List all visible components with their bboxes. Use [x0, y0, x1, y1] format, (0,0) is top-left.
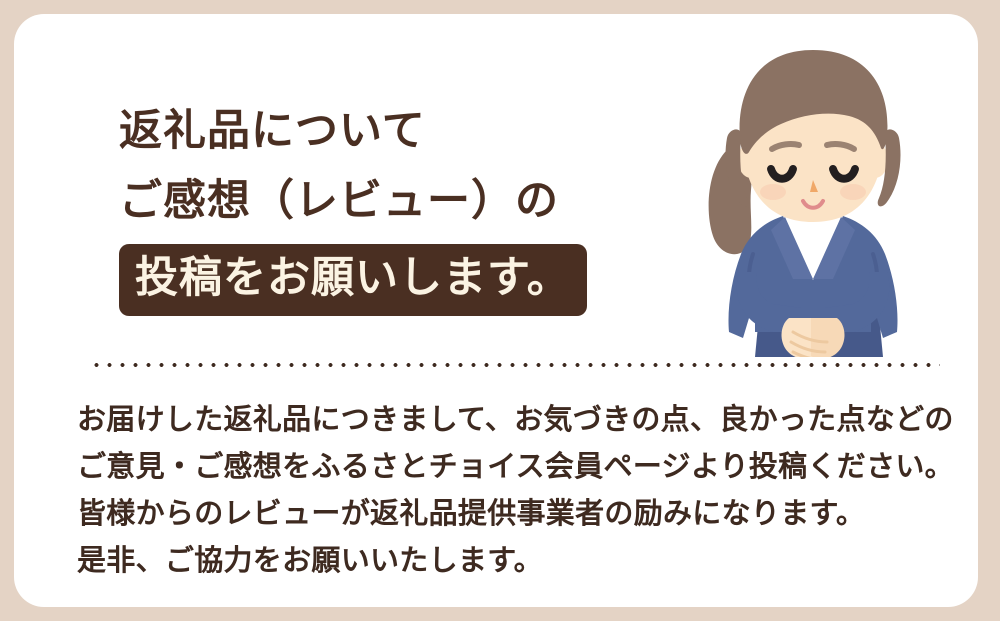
- review-request-banner: 返礼品について ご感想（レビュー）の 投稿をお願いします。 お届けした返礼品につ…: [0, 0, 1000, 621]
- body-text-block: お届けした返礼品につきまして、お気づきの点、良かった点などの ご意見・ご感想をふ…: [77, 397, 967, 585]
- headline-line-1: 返礼品について: [119, 96, 679, 166]
- headline-highlight-box: 投稿をお願いします。: [119, 244, 587, 316]
- banner-card: 返礼品について ご感想（レビュー）の 投稿をお願いします。 お届けした返礼品につ…: [14, 14, 978, 607]
- body-line-3: 皆様からのレビューが返礼品提供事業者の励みになります。: [77, 491, 967, 538]
- headline-line-2: ご感想（レビュー）の: [119, 166, 679, 236]
- headline-highlight-text: 投稿をお願いします。: [135, 249, 571, 307]
- body-line-1: お届けした返礼品につきまして、お気づきの点、良かった点などの: [77, 397, 967, 444]
- body-line-4: 是非、ご協力をお願いいたします。: [77, 538, 967, 585]
- dotted-divider: [90, 362, 940, 368]
- bowing-woman-illustration: [669, 32, 969, 357]
- body-line-2: ご意見・ご感想をふるさとチョイス会員ページより投稿ください。: [77, 444, 967, 491]
- headline-block: 返礼品について ご感想（レビュー）の 投稿をお願いします。: [119, 96, 679, 316]
